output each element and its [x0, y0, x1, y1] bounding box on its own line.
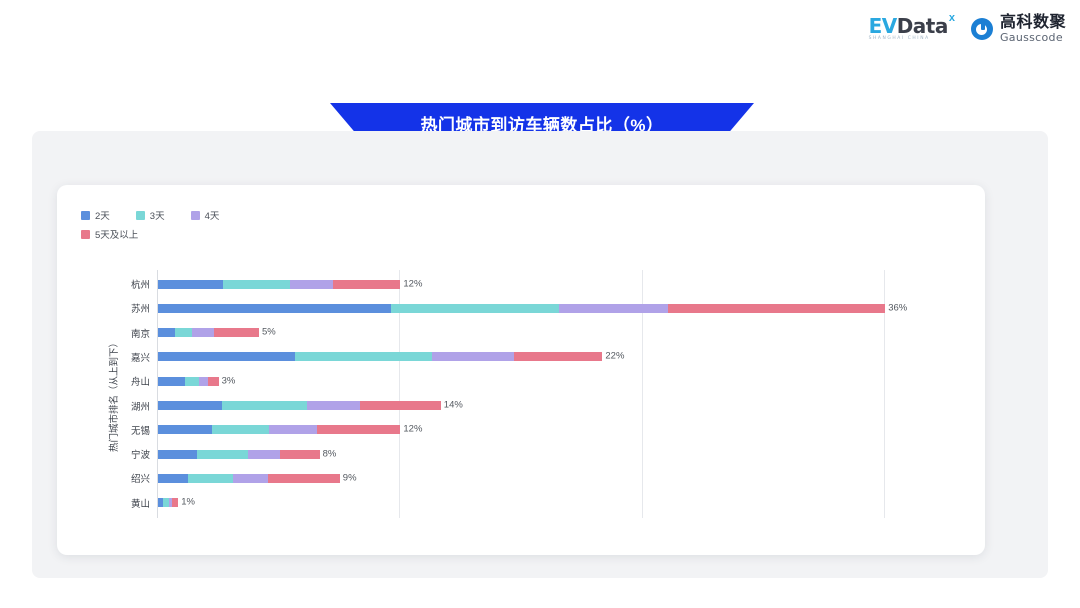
bar-segment-3天 — [197, 450, 249, 459]
bar-segment-4天 — [307, 401, 360, 410]
category-label: 杭州 — [131, 277, 150, 291]
legend-swatch-icon — [191, 211, 200, 220]
category-label: 湖州 — [131, 399, 150, 413]
bar-value-label: 9% — [343, 472, 357, 483]
legend-label: 3天 — [150, 208, 165, 222]
stacked-bar[interactable] — [158, 450, 320, 459]
logo-bar: EVData x SHANGHAI CHINA 高科数聚 Gausscode — [0, 0, 1080, 58]
legend-swatch-icon — [81, 230, 90, 239]
stacked-bar[interactable] — [158, 304, 885, 313]
bar-segment-3天 — [295, 352, 432, 361]
bar-segment-4天 — [432, 352, 514, 361]
bar-segment-5天及以上 — [668, 304, 885, 313]
bar-segment-2天 — [158, 352, 295, 361]
bar-row[interactable]: 南京5% — [157, 321, 965, 345]
evdata-data-text: Data — [897, 14, 948, 38]
bar-row[interactable]: 苏州36% — [157, 296, 965, 320]
bar-segment-3天 — [185, 377, 199, 386]
stacked-bar[interactable] — [158, 498, 178, 507]
chart-card: 2天3天4天5天及以上 热门城市排名（从上到下） 杭州12%苏州36%南京5%嘉… — [57, 185, 985, 555]
bar-segment-5天及以上 — [208, 377, 218, 386]
category-label: 南京 — [131, 326, 150, 340]
category-label: 无锡 — [131, 423, 150, 437]
bar-row[interactable]: 湖州14% — [157, 394, 965, 418]
bar-segment-4天 — [559, 304, 669, 313]
bar-segment-2天 — [158, 401, 222, 410]
gausscode-mark-icon — [971, 18, 993, 40]
evdata-logo: EVData x SHANGHAI CHINA — [869, 16, 955, 41]
category-label: 黄山 — [131, 496, 150, 510]
stacked-bar[interactable] — [158, 401, 441, 410]
bar-segment-5天及以上 — [214, 328, 259, 337]
bar-value-label: 22% — [605, 351, 624, 362]
evdata-ev-text: EV — [869, 14, 897, 38]
bar-value-label: 5% — [262, 327, 276, 338]
evdata-superscript-icon: x — [949, 13, 955, 24]
legend-swatch-icon — [136, 211, 145, 220]
bar-value-label: 1% — [181, 497, 195, 508]
bar-segment-3天 — [222, 401, 307, 410]
bar-segment-3天 — [188, 474, 233, 483]
bar-segment-3天 — [212, 425, 269, 434]
bar-segment-3天 — [223, 280, 290, 289]
bar-row[interactable]: 嘉兴22% — [157, 345, 965, 369]
category-label: 嘉兴 — [131, 350, 150, 364]
bar-row[interactable]: 绍兴9% — [157, 466, 965, 490]
bar-segment-4天 — [248, 450, 280, 459]
y-axis-title-text: 热门城市排名（从上到下） — [106, 338, 120, 452]
bar-value-label: 14% — [444, 400, 463, 411]
bar-segment-2天 — [158, 280, 223, 289]
bar-segment-4天 — [192, 328, 214, 337]
category-label: 苏州 — [131, 301, 150, 315]
category-label: 宁波 — [131, 447, 150, 461]
bar-value-label: 3% — [222, 375, 236, 386]
bar-segment-4天 — [290, 280, 333, 289]
bar-segment-4天 — [199, 377, 209, 386]
bar-row[interactable]: 舟山3% — [157, 369, 965, 393]
bar-segment-5天及以上 — [172, 498, 178, 507]
category-label: 舟山 — [131, 374, 150, 388]
bar-value-label: 12% — [403, 278, 422, 289]
legend-item-3[interactable]: 5天及以上 — [81, 227, 411, 241]
bar-segment-5天及以上 — [360, 401, 441, 410]
bar-segment-5天及以上 — [333, 280, 400, 289]
legend-item-2[interactable]: 4天 — [191, 208, 220, 222]
bar-value-label: 12% — [403, 424, 422, 435]
stacked-bar[interactable] — [158, 352, 602, 361]
bar-segment-5天及以上 — [268, 474, 340, 483]
bar-value-label: 8% — [323, 448, 337, 459]
stacked-bar[interactable] — [158, 377, 219, 386]
plot-area: 杭州12%苏州36%南京5%嘉兴22%舟山3%湖州14%无锡12%宁波8%绍兴9… — [157, 270, 965, 518]
stacked-bar[interactable] — [158, 280, 400, 289]
bar-segment-2天 — [158, 450, 197, 459]
gausscode-chinese-name: 高科数聚 — [1000, 15, 1066, 32]
legend-swatch-icon — [81, 211, 90, 220]
bar-segment-2天 — [158, 304, 391, 313]
legend-item-1[interactable]: 3天 — [136, 208, 165, 222]
bar-segment-2天 — [158, 425, 212, 434]
bar-segment-4天 — [269, 425, 317, 434]
legend-label: 4天 — [205, 208, 220, 222]
bar-segment-2天 — [158, 377, 185, 386]
bar-segment-2天 — [158, 474, 188, 483]
bar-segment-5天及以上 — [280, 450, 319, 459]
y-axis-title: 热门城市排名（从上到下） — [106, 110, 120, 300]
bar-row[interactable]: 杭州12% — [157, 272, 965, 296]
gausscode-logo: 高科数聚 Gausscode — [971, 15, 1066, 43]
bar-segment-5天及以上 — [514, 352, 602, 361]
chart-legend: 2天3天4天5天及以上 — [81, 208, 411, 241]
stacked-bar[interactable] — [158, 425, 400, 434]
bar-segment-3天 — [391, 304, 558, 313]
bar-segment-3天 — [175, 328, 192, 337]
plot-wrapper: 热门城市排名（从上到下） 杭州12%苏州36%南京5%嘉兴22%舟山3%湖州14… — [81, 270, 965, 520]
bar-segment-2天 — [158, 328, 175, 337]
bar-segment-5天及以上 — [317, 425, 401, 434]
stacked-bar[interactable] — [158, 328, 259, 337]
bar-segment-4天 — [233, 474, 268, 483]
bar-row[interactable]: 宁波8% — [157, 442, 965, 466]
bar-row[interactable]: 无锡12% — [157, 418, 965, 442]
bar-row[interactable]: 黄山1% — [157, 491, 965, 515]
stacked-bar[interactable] — [158, 474, 340, 483]
category-label: 绍兴 — [131, 471, 150, 485]
bar-value-label: 36% — [888, 302, 907, 313]
gausscode-english-name: Gausscode — [1000, 32, 1066, 44]
evdata-wordmark: EVData — [869, 16, 948, 36]
